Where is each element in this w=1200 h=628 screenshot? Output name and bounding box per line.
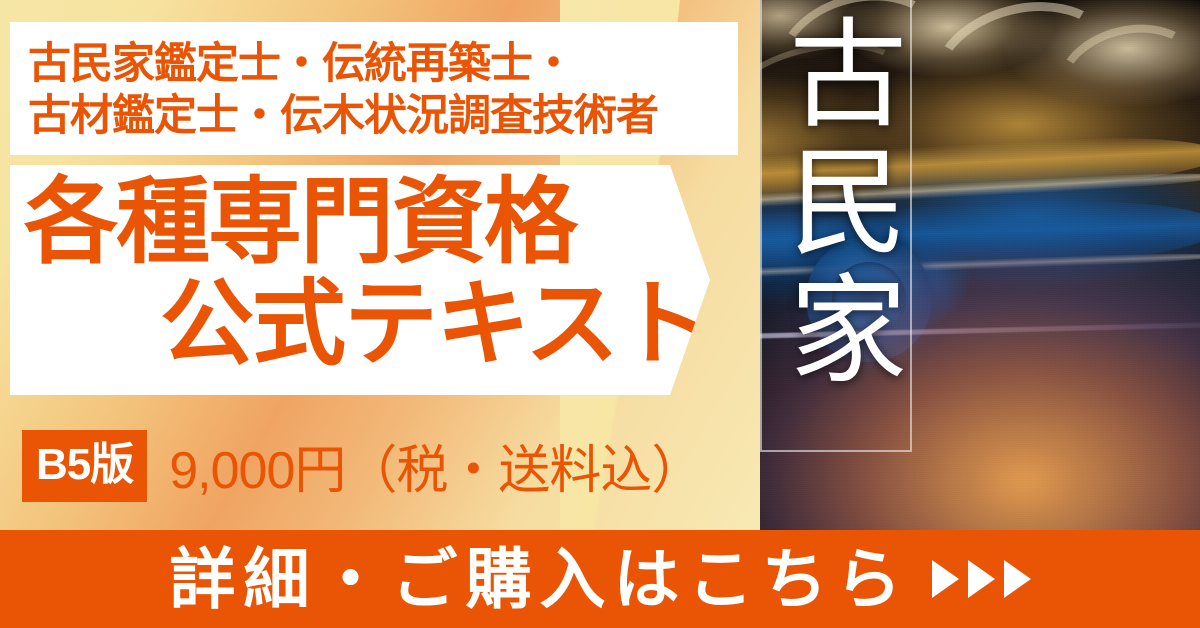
headline-panel: 古民家鑑定士・伝統再築士・ 古材鑑定士・伝木状況調査技術者	[10, 22, 738, 155]
cta-label: 詳細・ご購入はこちら	[170, 546, 910, 612]
chevron-right-icon	[968, 560, 995, 598]
title-line-2: 公式テキスト	[160, 275, 709, 374]
price-row: B5版 9,000円（税・送料込）	[22, 428, 702, 503]
cta-bar[interactable]: 詳細・ご購入はこちら	[0, 530, 1200, 628]
promo-banner: 伝統構法、古民家活用のための調査と再生の 古民家 古民家鑑定士・伝統再築士・ 古…	[0, 0, 1200, 628]
format-badge: B5版	[22, 430, 147, 502]
chevron-right-icon	[932, 560, 959, 598]
headline-line-2: 古材鑑定士・伝木状況調査技術者	[28, 90, 734, 142]
title-line-1: 各種専門資格	[24, 173, 576, 272]
title-panel: 各種専門資格 公式テキスト	[10, 165, 710, 395]
price-text: 9,000円（税・送料込）	[169, 428, 702, 503]
headline-text: 古民家鑑定士・伝統再築士・ 古材鑑定士・伝木状況調査技術者	[28, 38, 734, 143]
book-title: 古民家	[766, 12, 905, 396]
cta-arrows	[932, 560, 1031, 598]
chevron-right-icon	[1004, 560, 1031, 598]
headline-line-1: 古民家鑑定士・伝統再築士・	[28, 38, 734, 90]
book-title-frame: 古民家	[760, 0, 912, 452]
